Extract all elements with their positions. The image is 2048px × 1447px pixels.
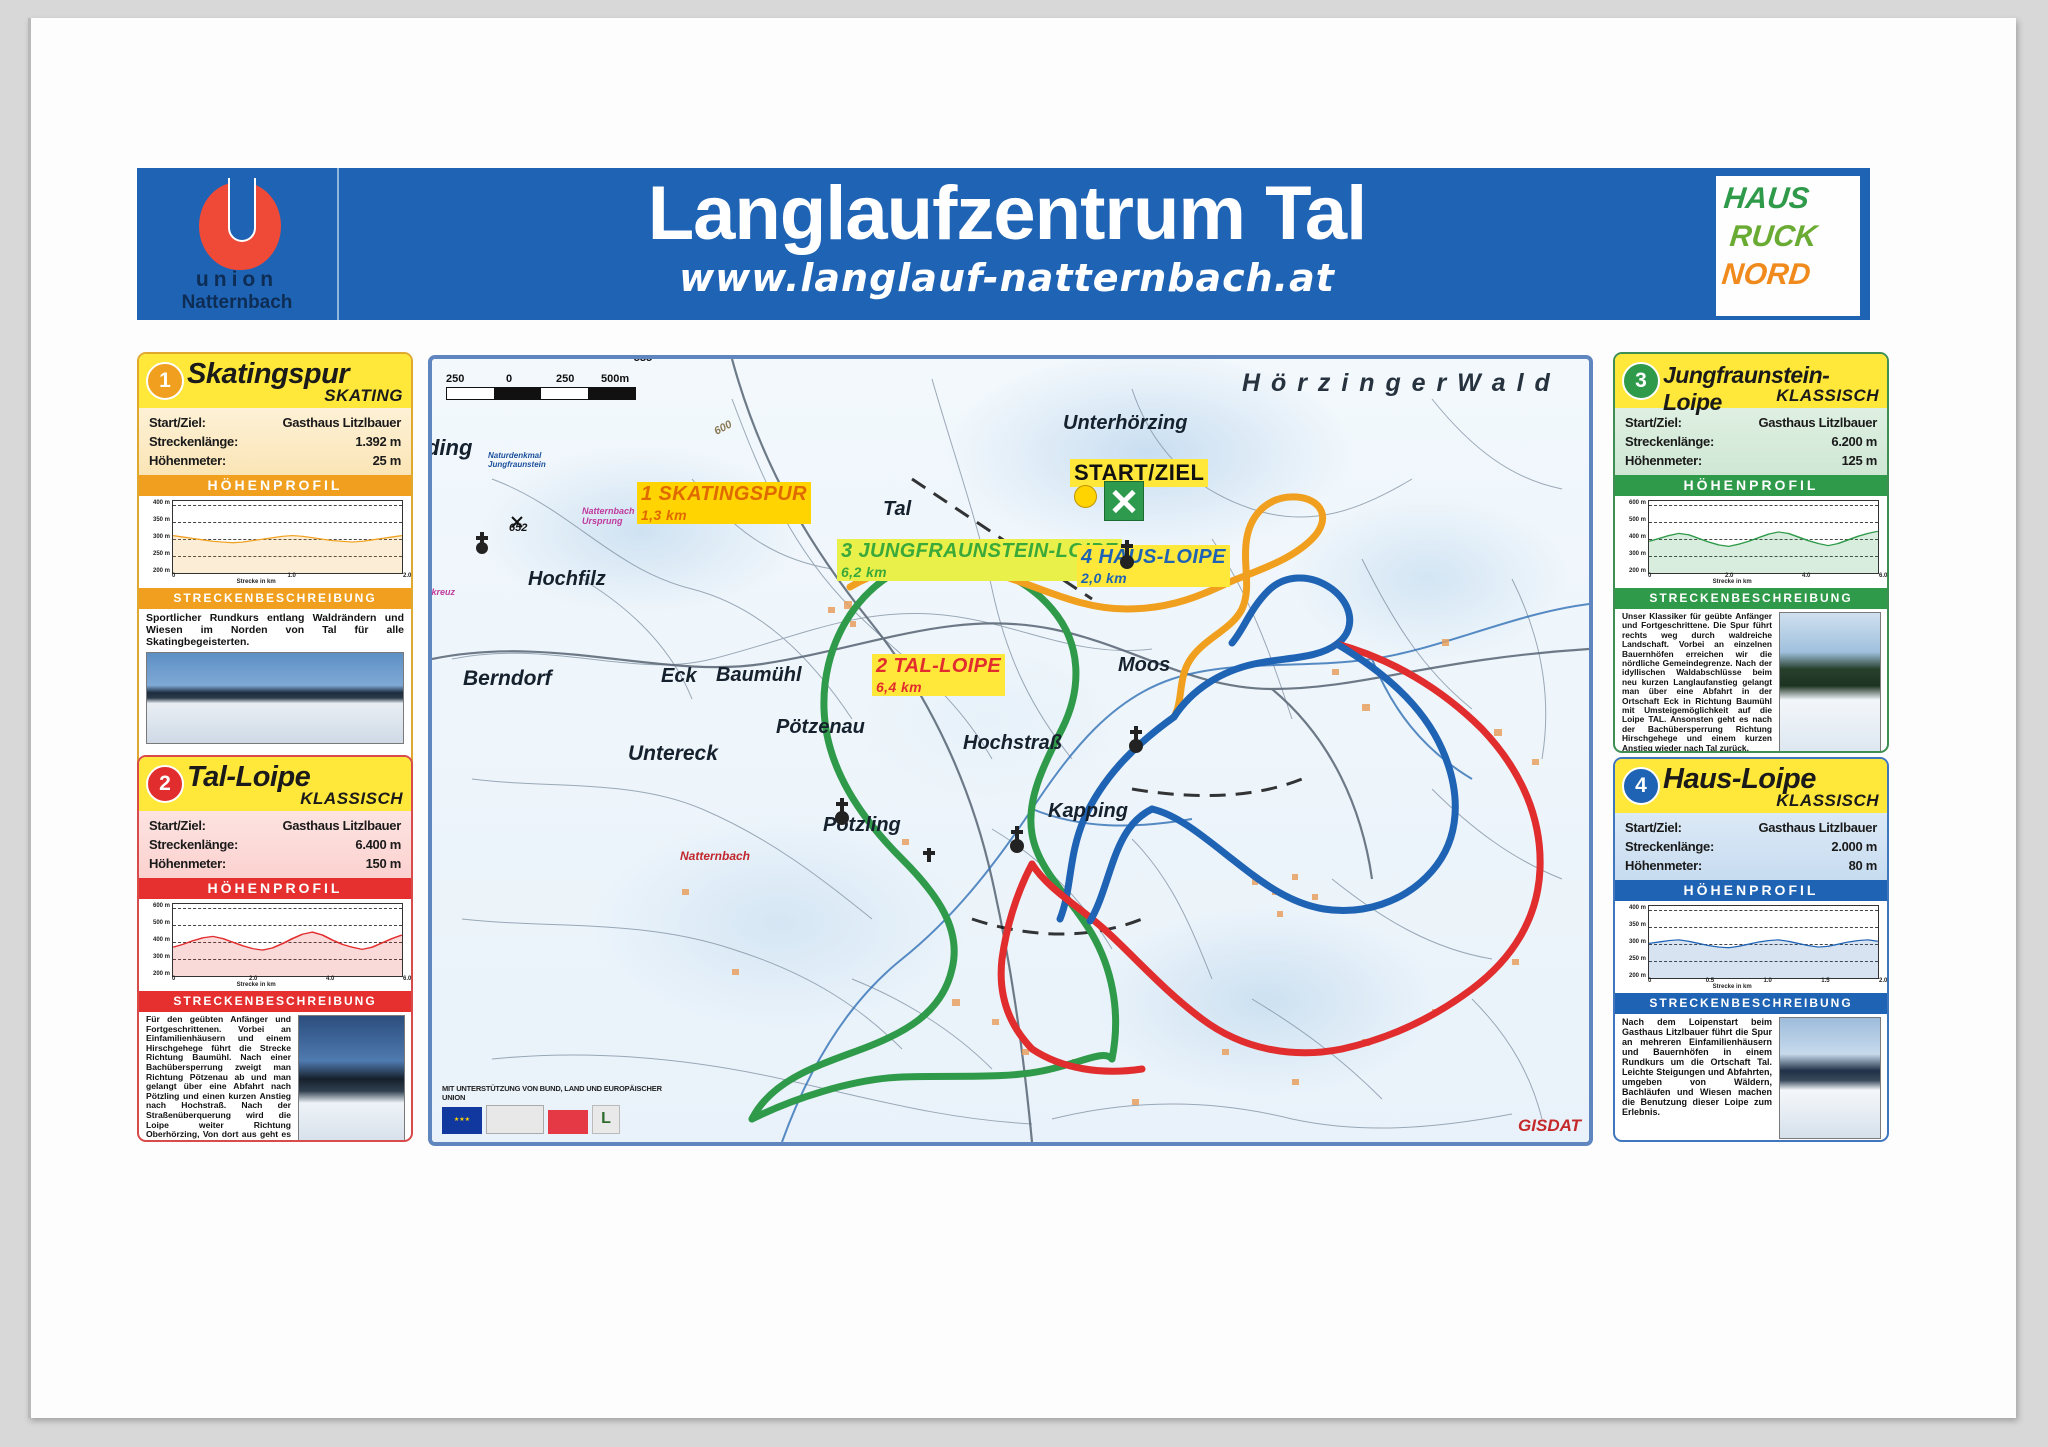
profile-line: [173, 501, 402, 573]
label-startziel: Start/Ziel:: [149, 414, 206, 431]
website-url[interactable]: www.langlauf-natternbach.at: [342, 256, 1672, 300]
chapel-icon: [924, 849, 934, 861]
label-hoehenmeter: Höhenmeter:: [1625, 857, 1702, 874]
route-3-photo: [1779, 612, 1881, 753]
chapel-icon: [1121, 541, 1133, 568]
route-4-profile-plot: [1648, 905, 1879, 979]
route-2-header: 2 Tal-Loipe KLASSISCH: [139, 757, 411, 811]
route-4-profile-xaxis: 00.51.01.52.0Strecke in km: [1648, 978, 1879, 991]
trail-map[interactable]: 250 0 250 500m H ö r z i n g e r W a l d…: [428, 355, 1593, 1146]
route-3-elevation: 125 m: [1842, 452, 1877, 469]
route-2-profile: 600 m500 m400 m300 m200 m 02.04.06.0Stre…: [139, 899, 411, 991]
route-3-profile-yaxis: 600 m500 m400 m300 m200 m: [1621, 500, 1647, 572]
route-1-profile: 400 m350 m300 m250 m200 m 01.02.0Strecke…: [139, 496, 411, 588]
union-logo-place: Natternbach: [137, 292, 337, 314]
route-panel-2[interactable]: 2 Tal-Loipe KLASSISCH Start/Ziel:Gasthau…: [137, 755, 413, 1142]
sponsor-caption: MIT UNTERSTÜTZUNG VON BUND, LAND UND EUR…: [442, 1084, 672, 1102]
profile-y-tick: 500 m: [1629, 517, 1646, 523]
profile-x-label: Strecke in km: [237, 982, 276, 988]
chapel-icon: [1130, 727, 1142, 752]
profile-x-tick: 6.0: [1879, 573, 1887, 579]
sponsor-logo-4: L: [592, 1105, 620, 1134]
route-2-length: 6.400 m: [355, 836, 401, 853]
profile-x-tick: 6.0: [403, 976, 411, 982]
label-startziel: Start/Ziel:: [1625, 819, 1682, 836]
route-3-description: Unser Klassiker für geübte Anfänger und …: [1615, 609, 1779, 753]
profile-y-tick: 400 m: [153, 500, 170, 506]
route-4-stats: Start/Ziel:Gasthaus Litzlbauer Streckenl…: [1615, 813, 1887, 880]
brand-line-1: HAUS: [1722, 182, 1811, 216]
union-logo-name: union: [137, 268, 337, 292]
profile-y-tick: 250 m: [1629, 956, 1646, 962]
eu-flag-icon: ★★★: [442, 1107, 482, 1134]
brand-line-3: NORD: [1720, 258, 1812, 292]
chapel-icon: [836, 799, 848, 824]
label-hoehenmeter: Höhenmeter:: [149, 452, 226, 469]
route-4-description: Nach dem Loipenstart beim Gasthaus Litzl…: [1615, 1014, 1779, 1142]
profile-y-tick: 350 m: [1629, 922, 1646, 928]
profile-x-tick: 1.0: [1764, 978, 1772, 984]
route-4-profile: 400 m350 m300 m250 m200 m 00.51.01.52.0S…: [1615, 901, 1887, 993]
route-panel-4[interactable]: 4 Haus-Loipe KLASSISCH Start/Ziel:Gastha…: [1613, 757, 1889, 1142]
route-4-elevation: 80 m: [1849, 857, 1877, 874]
chapel-icon: [477, 533, 487, 553]
poster-header: union Natternbach Langlaufzentrum Tal ww…: [137, 168, 1870, 320]
route-3-header: 3 Jungfraunstein-Loipe KLASSISCH: [1615, 354, 1887, 408]
profile-y-tick: 400 m: [1629, 534, 1646, 540]
profile-x-tick: 4.0: [326, 976, 334, 982]
profile-line: [1649, 501, 1878, 573]
route-2-title: Tal-Loipe: [187, 761, 310, 794]
route-2-description: Für den geübten Anfänger und Fortgeschri…: [139, 1012, 298, 1142]
profile-x-label: Strecke in km: [237, 579, 276, 585]
route-1-elevation: 25 m: [373, 452, 401, 469]
label-startziel: Start/Ziel:: [1625, 414, 1682, 431]
label-laenge: Streckenlänge:: [1625, 838, 1714, 855]
profile-x-tick: 0: [172, 976, 175, 982]
label-laenge: Streckenlänge:: [149, 836, 238, 853]
route-2-profile-plot: [172, 903, 403, 977]
route-1-profile-bar: HÖHENPROFIL: [139, 475, 411, 496]
profile-y-tick: 300 m: [1629, 551, 1646, 557]
profile-y-tick: 400 m: [1629, 905, 1646, 911]
route-3-profile-plot: [1648, 500, 1879, 574]
union-u-mark-icon: [199, 182, 281, 272]
profile-y-tick: 200 m: [153, 971, 170, 977]
route-3-profile-bar: HÖHENPROFIL: [1615, 475, 1887, 496]
route-2-profile-bar: HÖHENPROFIL: [139, 878, 411, 899]
label-laenge: Streckenlänge:: [149, 433, 238, 450]
route-1-photo: [146, 652, 404, 744]
route-1-length: 1.392 m: [355, 433, 401, 450]
label-startziel: Start/Ziel:: [149, 817, 206, 834]
route-2-stats: Start/Ziel:Gasthaus Litzlbauer Streckenl…: [139, 811, 411, 878]
route-1-desc-bar: STRECKENBESCHREIBUNG: [139, 588, 411, 609]
brand-line-2: RUCK: [1728, 220, 1818, 254]
profile-y-tick: 600 m: [1629, 500, 1646, 506]
map-poi-icons: [432, 359, 1589, 1142]
profile-y-tick: 300 m: [153, 534, 170, 540]
route-1-badge: 1: [146, 362, 184, 400]
profile-x-tick: 0: [1648, 978, 1651, 984]
route-2-profile-yaxis: 600 m500 m400 m300 m200 m: [145, 903, 171, 975]
route-3-desc-bar: STRECKENBESCHREIBUNG: [1615, 588, 1887, 609]
route-3-profile-xaxis: 02.04.06.0Strecke in km: [1648, 573, 1879, 586]
profile-x-tick: 1.0: [288, 573, 296, 579]
route-1-header: 1 Skatingspur SKATING: [139, 354, 411, 408]
profile-line: [173, 904, 402, 976]
route-4-profile-bar: HÖHENPROFIL: [1615, 880, 1887, 901]
label-hoehenmeter: Höhenmeter:: [149, 855, 226, 872]
sponsor-logo-2: [486, 1105, 544, 1134]
label-hoehenmeter: Höhenmeter:: [1625, 452, 1702, 469]
profile-y-tick: 400 m: [153, 937, 170, 943]
profile-y-tick: 250 m: [153, 551, 170, 557]
route-3-stats: Start/Ziel:Gasthaus Litzlbauer Streckenl…: [1615, 408, 1887, 475]
route-4-length: 2.000 m: [1831, 838, 1877, 855]
profile-x-tick: 0: [172, 573, 175, 579]
route-4-header: 4 Haus-Loipe KLASSISCH: [1615, 759, 1887, 813]
profile-y-tick: 200 m: [153, 568, 170, 574]
route-3-technique: KLASSISCH: [1776, 386, 1879, 406]
map-credit: GISDAT: [1518, 1116, 1581, 1136]
page-title: Langlaufzentrum Tal: [342, 172, 1672, 256]
profile-y-tick: 300 m: [1629, 939, 1646, 945]
route-4-badge: 4: [1622, 767, 1660, 805]
route-1-technique: SKATING: [324, 386, 403, 406]
profile-y-tick: 200 m: [1629, 973, 1646, 979]
union-logo: union Natternbach: [137, 168, 339, 320]
route-2-elevation: 150 m: [366, 855, 401, 872]
profile-y-tick: 300 m: [153, 954, 170, 960]
hausrucknord-logo: HAUS RUCK NORD: [1716, 176, 1860, 316]
profile-line: [1649, 906, 1878, 978]
sponsor-logo-3: [548, 1110, 588, 1134]
route-1-startziel: Gasthaus Litzlbauer: [282, 414, 401, 431]
route-1-profile-plot: [172, 500, 403, 574]
route-2-profile-xaxis: 02.04.06.0Strecke in km: [172, 976, 403, 989]
spot-height-cross: [512, 517, 522, 527]
route-4-photo: [1779, 1017, 1881, 1139]
route-4-technique: KLASSISCH: [1776, 791, 1879, 811]
profile-y-tick: 500 m: [153, 920, 170, 926]
poster-root: union Natternbach Langlaufzentrum Tal ww…: [0, 0, 2048, 1447]
route-4-startziel: Gasthaus Litzlbauer: [1758, 819, 1877, 836]
route-2-technique: KLASSISCH: [300, 789, 403, 809]
route-1-profile-xaxis: 01.02.0Strecke in km: [172, 573, 403, 586]
route-3-profile: 600 m500 m400 m300 m200 m 02.04.06.0Stre…: [1615, 496, 1887, 588]
profile-x-tick: 2.0: [403, 573, 411, 579]
route-2-badge: 2: [146, 765, 184, 803]
profile-x-tick: 4.0: [1802, 573, 1810, 579]
route-1-description: Sportlicher Rundkurs entlang Waldrändern…: [139, 609, 411, 652]
profile-x-tick: 1.5: [1821, 978, 1829, 984]
route-4-desc-bar: STRECKENBESCHREIBUNG: [1615, 993, 1887, 1014]
route-3-startziel: Gasthaus Litzlbauer: [1758, 414, 1877, 431]
route-1-profile-yaxis: 400 m350 m300 m250 m200 m: [145, 500, 171, 572]
route-4-profile-yaxis: 400 m350 m300 m250 m200 m: [1621, 905, 1647, 977]
route-2-startziel: Gasthaus Litzlbauer: [282, 817, 401, 834]
profile-x-label: Strecke in km: [1713, 984, 1752, 990]
route-1-stats: Start/Ziel:Gasthaus Litzlbauer Streckenl…: [139, 408, 411, 475]
profile-y-tick: 200 m: [1629, 568, 1646, 574]
route-2-desc-bar: STRECKENBESCHREIBUNG: [139, 991, 411, 1012]
sponsor-strip: MIT UNTERSTÜTZUNG VON BUND, LAND UND EUR…: [442, 1084, 672, 1134]
profile-x-tick: 2.0: [1879, 978, 1887, 984]
route-3-badge: 3: [1622, 362, 1660, 400]
route-panel-3[interactable]: 3 Jungfraunstein-Loipe KLASSISCH Start/Z…: [1613, 352, 1889, 753]
route-2-photo: [298, 1015, 405, 1142]
route-panel-1[interactable]: 1 Skatingspur SKATING Start/Ziel:Gasthau…: [137, 352, 413, 794]
profile-y-tick: 350 m: [153, 517, 170, 523]
label-laenge: Streckenlänge:: [1625, 433, 1714, 450]
profile-x-tick: 0: [1648, 573, 1651, 579]
profile-x-label: Strecke in km: [1713, 579, 1752, 585]
chapel-icon: [1011, 827, 1023, 852]
route-3-length: 6.200 m: [1831, 433, 1877, 450]
profile-y-tick: 600 m: [153, 903, 170, 909]
